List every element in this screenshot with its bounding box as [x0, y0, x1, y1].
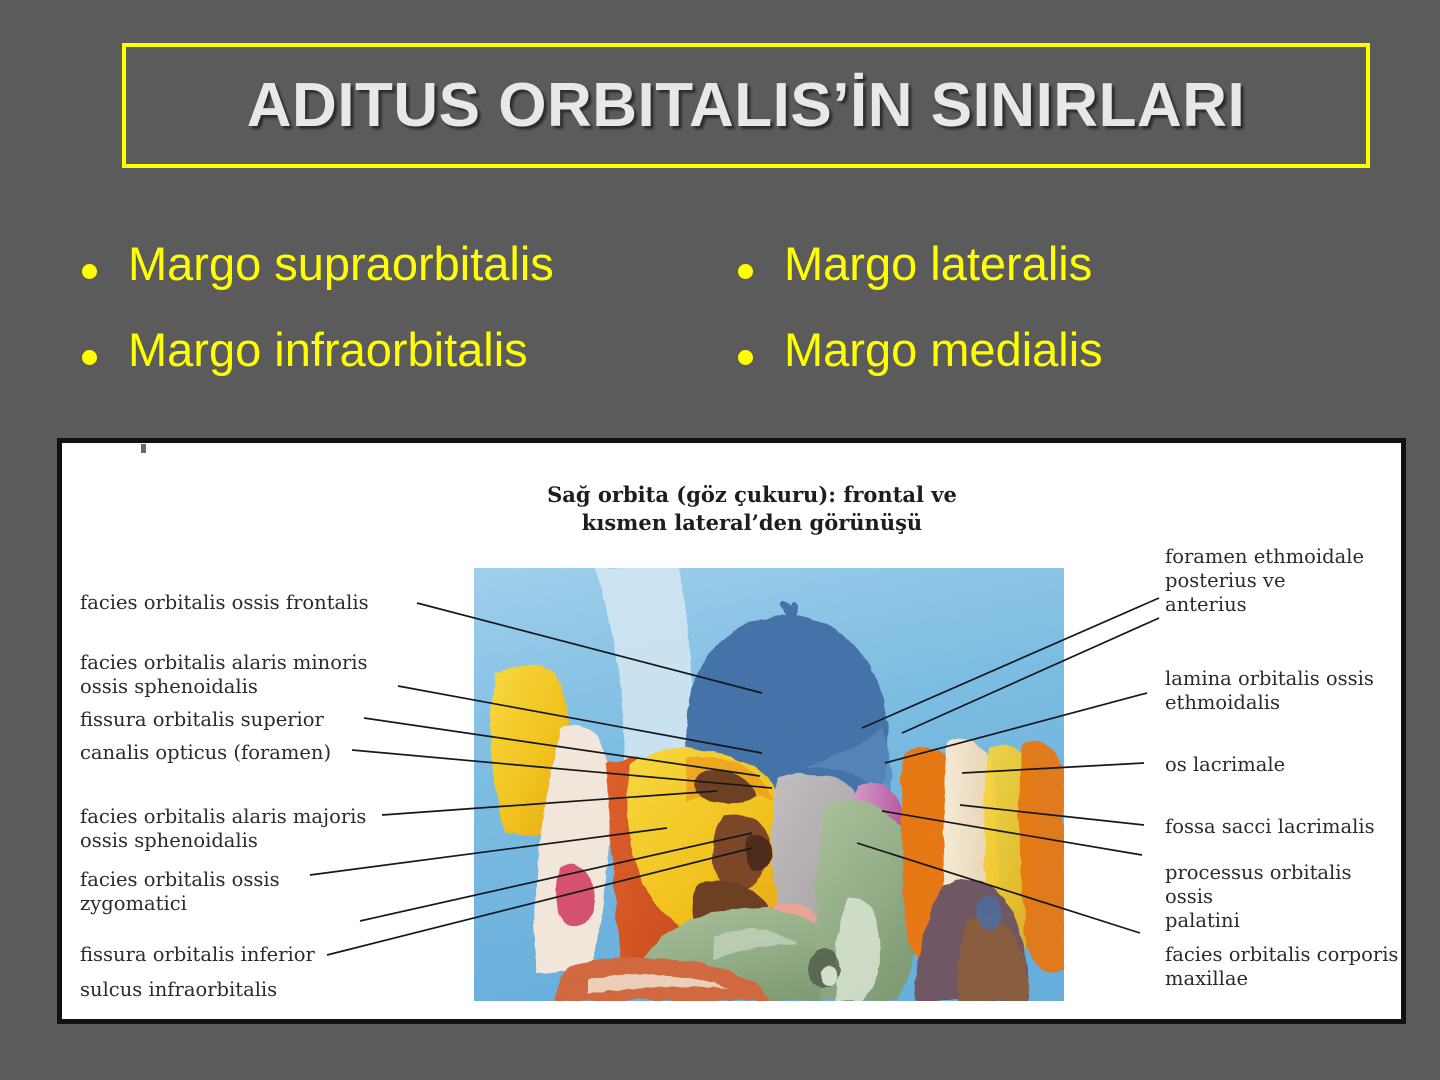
list-item: Margo supraorbitalis: [82, 236, 742, 322]
anno-facies-orbitalis-ossis-frontalis: facies orbitalis ossis frontalis: [80, 591, 369, 615]
bullet-column-left: Margo supraorbitalis Margo infraorbitali…: [82, 236, 742, 408]
figure-panel-inner: Sağ orbita (göz çukuru): frontal ve kısm…: [62, 443, 1401, 1019]
anno-processus-orbitalis-ossis-palatini: processus orbitalis ossis palatini: [1165, 861, 1401, 933]
list-item: Margo infraorbitalis: [82, 322, 742, 408]
bullet-dot-icon: [738, 350, 753, 365]
anno-facies-orbitalis-alaris-majoris: facies orbitalis alaris majoris ossis sp…: [80, 805, 366, 853]
bullet-dot-icon: [738, 264, 753, 279]
figure-panel: Sağ orbita (göz çukuru): frontal ve kısm…: [57, 438, 1406, 1024]
list-item: Margo medialis: [738, 322, 1358, 408]
anno-lamina-orbitalis-ossis-ethmoidalis: lamina orbitalis ossis ethmoidalis: [1165, 667, 1374, 715]
list-item: Margo lateralis: [738, 236, 1358, 322]
anno-canalis-opticus-foramen: canalis opticus (foramen): [80, 741, 331, 765]
anno-sulcus-infraorbitalis: sulcus infraorbitalis: [80, 978, 277, 1002]
bullet-label-margo-medialis: Margo medialis: [784, 322, 1103, 377]
anno-os-lacrimale: os lacrimale: [1165, 753, 1285, 777]
bullet-label-margo-lateralis: Margo lateralis: [784, 236, 1092, 291]
anno-fissura-orbitalis-superior: fissura orbitalis superior: [80, 708, 324, 732]
bullet-label-margo-infraorbitalis: Margo infraorbitalis: [128, 322, 528, 377]
anno-facies-orbitalis-alaris-minoris: facies orbitalis alaris minoris ossis sp…: [80, 651, 368, 699]
anno-fissura-orbitalis-inferior: fissura orbitalis inferior: [80, 943, 315, 967]
anno-fossa-sacci-lacrimalis: fossa sacci lacrimalis: [1165, 815, 1375, 839]
anno-foramen-ethmoidale-posterius-ve-anterius: foramen ethmoidale posterius ve anterius: [1165, 545, 1364, 617]
scan-artifact-speck: [141, 444, 146, 453]
bullet-column-right: Margo lateralis Margo medialis: [738, 236, 1358, 408]
bullet-label-margo-supraorbitalis: Margo supraorbitalis: [128, 236, 554, 291]
bullet-lists: Margo supraorbitalis Margo infraorbitali…: [0, 236, 1440, 406]
anno-facies-orbitalis-ossis-zygomatici: facies orbitalis ossis zygomatici: [80, 868, 280, 916]
figure-caption: Sağ orbita (göz çukuru): frontal ve kısm…: [532, 481, 972, 538]
bullet-dot-icon: [82, 264, 97, 279]
orbit-anatomy-illustration: [474, 568, 1064, 1001]
anno-facies-orbitalis-corporis-maxillae: facies orbitalis corporis maxillae: [1165, 943, 1398, 991]
page-title: ADITUS ORBITALIS’İN SINIRLARI: [247, 75, 1245, 137]
bullet-dot-icon: [82, 350, 97, 365]
slide-title-box: ADITUS ORBITALIS’İN SINIRLARI: [122, 43, 1370, 168]
illustration-svg: [474, 568, 1064, 1001]
